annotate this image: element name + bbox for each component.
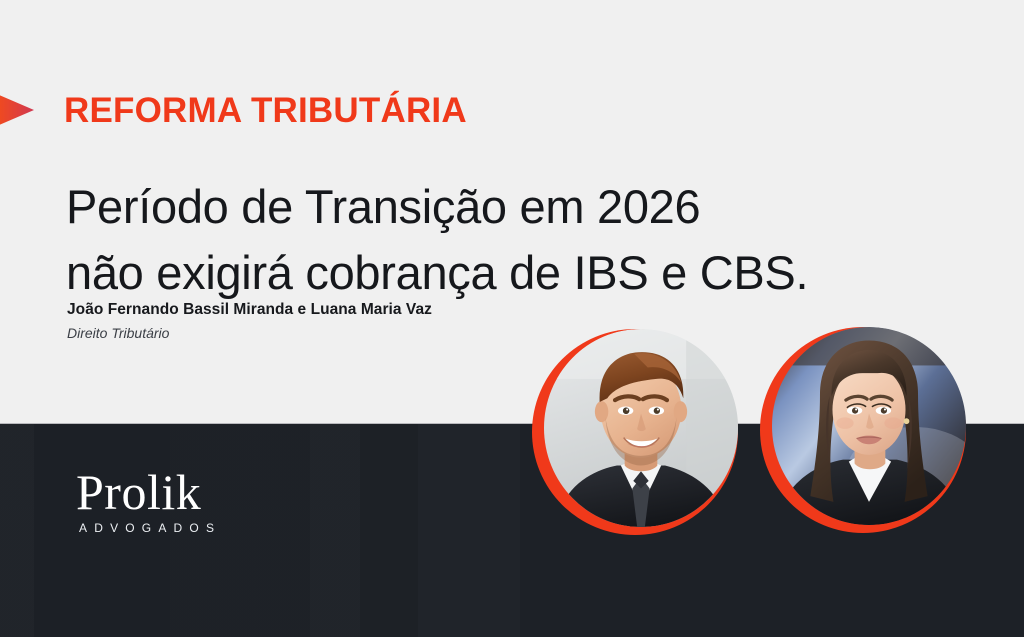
page-title: Período de Transição em 2026 não exigirá… xyxy=(66,174,996,306)
byline-authors: João Fernando Bassil Miranda e Luana Mar… xyxy=(67,300,587,320)
headline-line-1: Período de Transição em 2026 xyxy=(66,174,996,240)
eyebrow-label: REFORMA TRIBUTÁRIA xyxy=(64,93,467,128)
logo-tagline: ADVOGADOS xyxy=(79,521,296,535)
avatar-photo xyxy=(544,329,738,527)
byline: João Fernando Bassil Miranda e Luana Mar… xyxy=(67,300,587,342)
eyebrow: REFORMA TRIBUTÁRIA xyxy=(0,86,467,134)
avatar-joao xyxy=(532,329,738,535)
avatar-luana xyxy=(760,327,966,533)
headline-line-2: não exigirá cobrança de IBS e CBS. xyxy=(66,240,996,306)
play-triangle-icon xyxy=(0,86,38,134)
avatar-photo xyxy=(772,327,966,525)
logo-wordmark: Prolik xyxy=(76,466,296,518)
prolik-logo[interactable]: Prolik ADVOGADOS xyxy=(76,466,296,535)
byline-practice-area: Direito Tributário xyxy=(67,324,587,342)
article-banner: REFORMA TRIBUTÁRIA Período de Transição … xyxy=(0,0,1024,637)
